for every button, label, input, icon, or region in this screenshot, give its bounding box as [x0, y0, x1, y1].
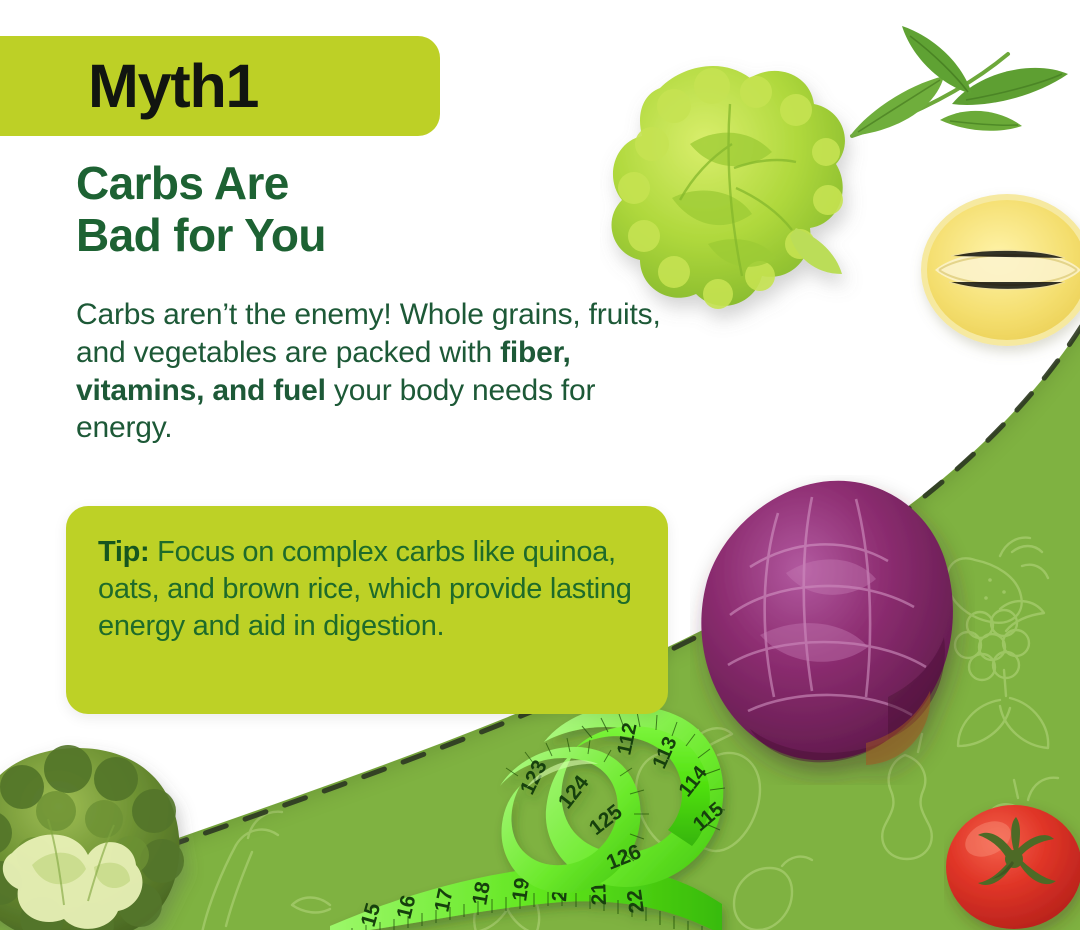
tip-body: Focus on complex carbs like quinoa, oats…: [98, 536, 632, 642]
svg-text:17: 17: [430, 886, 457, 914]
headline-line-2: Bad for You: [76, 209, 326, 261]
tip-label: Tip:: [98, 536, 149, 568]
tomato-image: [944, 795, 1080, 930]
tip-callout-box: Tip: Focus on complex carbs like quinoa,…: [66, 506, 668, 714]
svg-text:123: 123: [516, 757, 552, 799]
svg-text:22: 22: [623, 888, 649, 914]
svg-text:18: 18: [468, 880, 495, 907]
headline-line-1: Carbs Are: [76, 157, 289, 209]
myth-badge-label: Myth1: [88, 56, 258, 117]
body-segment-1: Carbs aren’t the enemy! Whole grains, fr…: [76, 298, 661, 369]
tip-text: Tip: Focus on complex carbs like quinoa,…: [98, 534, 638, 645]
myth-number-badge: Myth1: [0, 36, 440, 136]
page-title: Carbs Are Bad for You: [76, 158, 636, 262]
broccoli-image: [0, 735, 204, 930]
body-paragraph: Carbs aren’t the enemy! Whole grains, fr…: [76, 296, 676, 447]
lemon-half-image: [905, 170, 1080, 370]
infographic-poster: 15 16 17 18 19 20 21 22 112 113 114 115: [0, 0, 1080, 930]
measuring-tape-image: 15 16 17 18 19 20 21 22 112 113 114 115: [330, 690, 760, 930]
